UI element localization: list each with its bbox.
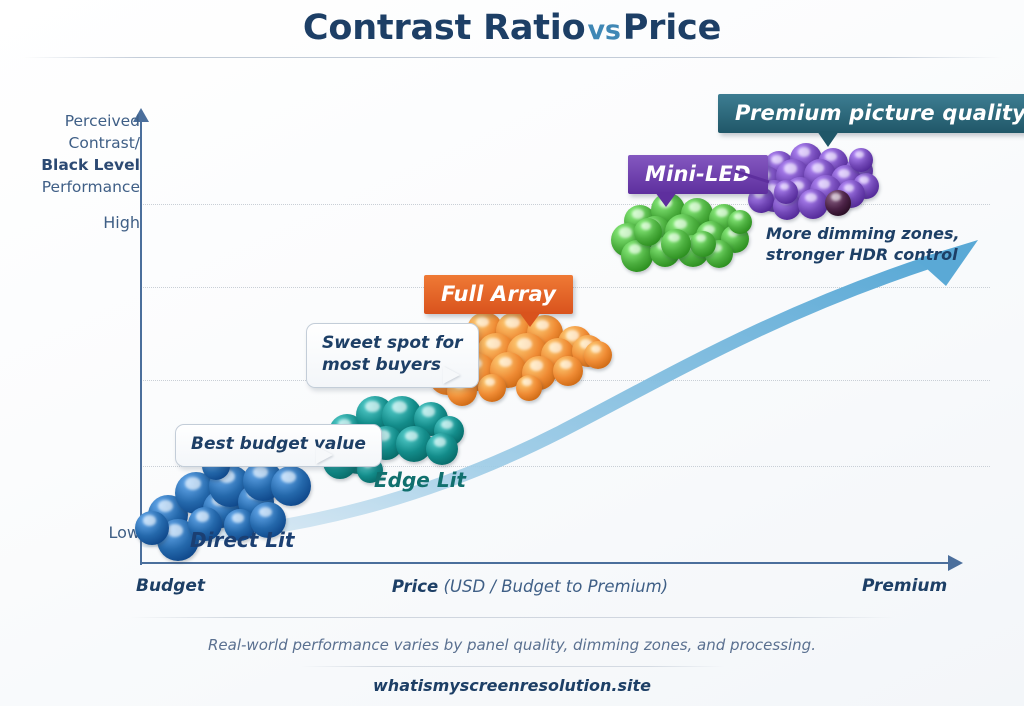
data-point	[661, 229, 691, 259]
data-point	[584, 341, 612, 369]
data-point	[825, 190, 851, 216]
callout-sweet-spot-line1: Sweet spot for	[322, 333, 463, 353]
footer-divider-2	[300, 666, 724, 667]
site-name: whatismyscreenresolution.site	[0, 676, 1024, 695]
gridline-1	[143, 204, 990, 205]
footer-divider	[130, 617, 894, 618]
chart-canvas: Contrast RatiovsPrice Perceived Contrast…	[0, 0, 1024, 706]
callout-best-budget-value-tail-icon	[316, 446, 333, 464]
banner-mini-led-pointer-icon	[735, 166, 781, 188]
series-label-edge-lit: Edge Lit	[374, 468, 466, 492]
y-axis-title-line4: Performance	[42, 178, 140, 196]
annotation-dimming-zones-line2: stronger HDR control	[766, 245, 958, 264]
data-point	[516, 375, 542, 401]
banner-premium-quality-tail-icon	[817, 131, 839, 147]
y-axis-title-line3: Black Level	[41, 156, 140, 174]
annotation-dimming-zones-line1: More dimming zones,	[766, 224, 960, 243]
title-divider	[22, 57, 1002, 58]
data-point	[553, 356, 583, 386]
callout-sweet-spot-line2: most buyers	[322, 355, 441, 375]
annotation-dimming-zones: More dimming zones, stronger HDR control	[766, 224, 960, 266]
x-axis-title: Price (USD / Budget to Premium)	[300, 577, 760, 596]
banner-premium-quality: Premium picture quality	[718, 94, 1024, 133]
y-axis-title: Perceived Contrast/ Black Level Performa…	[14, 110, 140, 198]
callout-sweet-spot-tail-icon	[443, 366, 460, 384]
y-axis-title-line1: Perceived	[65, 112, 140, 130]
banner-full-array: Full Array	[424, 275, 573, 314]
title-vs: vs	[585, 15, 622, 46]
y-axis-line	[140, 118, 142, 565]
x-axis-title-rest: (USD / Budget to Premium)	[438, 577, 668, 596]
data-point	[271, 466, 311, 506]
footnote: Real-world performance varies by panel q…	[0, 636, 1024, 654]
data-point	[478, 374, 506, 402]
x-tick-premium: Premium	[862, 576, 947, 596]
x-tick-budget: Budget	[136, 576, 205, 596]
callout-best-budget-value-text: Best budget value	[191, 434, 366, 454]
series-label-direct-lit: Direct Lit	[190, 528, 294, 552]
data-point	[426, 433, 458, 465]
data-point	[798, 189, 828, 219]
callout-best-budget-value: Best budget value	[175, 424, 382, 467]
x-axis-title-strong: Price	[392, 577, 438, 596]
x-axis-line	[140, 562, 952, 564]
data-point	[634, 218, 662, 246]
y-axis-title-line2: Contrast/	[69, 134, 140, 152]
data-point	[849, 148, 873, 172]
banner-mini-led-tail-icon	[655, 192, 677, 207]
page-title: Contrast RatiovsPrice	[0, 8, 1024, 48]
title-part-2: Price	[623, 8, 721, 48]
x-axis-arrow-icon	[948, 555, 963, 571]
y-tick-low: Low	[30, 523, 140, 542]
title-part-1: Contrast Ratio	[303, 8, 586, 48]
data-point	[135, 511, 169, 545]
data-point	[728, 210, 752, 234]
data-point	[690, 231, 716, 257]
banner-full-array-tail-icon	[519, 312, 541, 327]
y-tick-high: High	[30, 213, 140, 232]
